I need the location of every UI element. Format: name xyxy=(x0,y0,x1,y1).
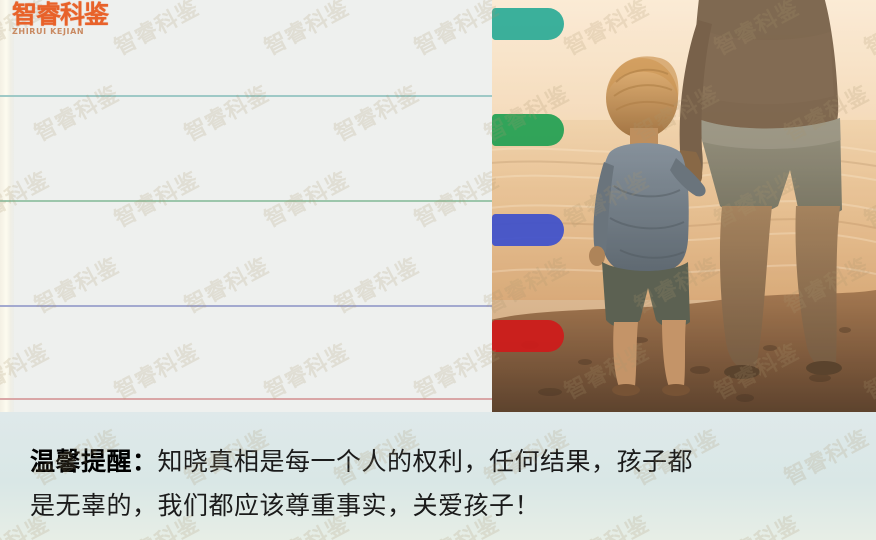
notice-first-line: 温馨提醒：知晓真相是每一个人的权利，任何结果，孩子都 xyxy=(30,440,842,484)
pill-d xyxy=(492,320,564,352)
notice-line1: 知晓真相是每一个人的权利，任何结果，孩子都 xyxy=(158,447,694,476)
pill-c xyxy=(492,214,564,246)
left-edge-strip xyxy=(0,0,14,412)
notice-bar: 温馨提醒：知晓真相是每一个人的权利，任何结果，孩子都 是无辜的，我们都应该尊重事… xyxy=(0,412,876,540)
divider-a-b xyxy=(0,95,492,97)
divider-d-bottom xyxy=(0,398,492,400)
notice-label: 温馨提醒： xyxy=(30,447,158,476)
divider-c-d xyxy=(0,305,492,307)
notice-line2: 是无辜的，我们都应该尊重事实，关爱孩子！ xyxy=(30,484,842,528)
divider-b-c xyxy=(0,200,492,202)
upper-section: 结婚几年了，关于孩子的身世我 一直没有答案? A 从孩子出生到现在，心里总有 个… xyxy=(0,0,876,412)
infographic-root: 结婚几年了，关于孩子的身世我 一直没有答案? A 从孩子出生到现在，心里总有 个… xyxy=(0,0,876,540)
pill-b xyxy=(492,114,564,146)
notice-text: 温馨提醒：知晓真相是每一个人的权利，任何结果，孩子都 是无辜的，我们都应该尊重事… xyxy=(30,440,842,528)
brand-logo-subtitle: ZHIRUI KEJIAN xyxy=(12,27,132,36)
brand-logo: 智睿科鉴 ZHIRUI KEJIAN xyxy=(12,4,132,36)
questions-column xyxy=(0,0,492,412)
brand-logo-mark: 智睿科鉴 xyxy=(12,4,132,26)
pill-a xyxy=(492,8,564,40)
